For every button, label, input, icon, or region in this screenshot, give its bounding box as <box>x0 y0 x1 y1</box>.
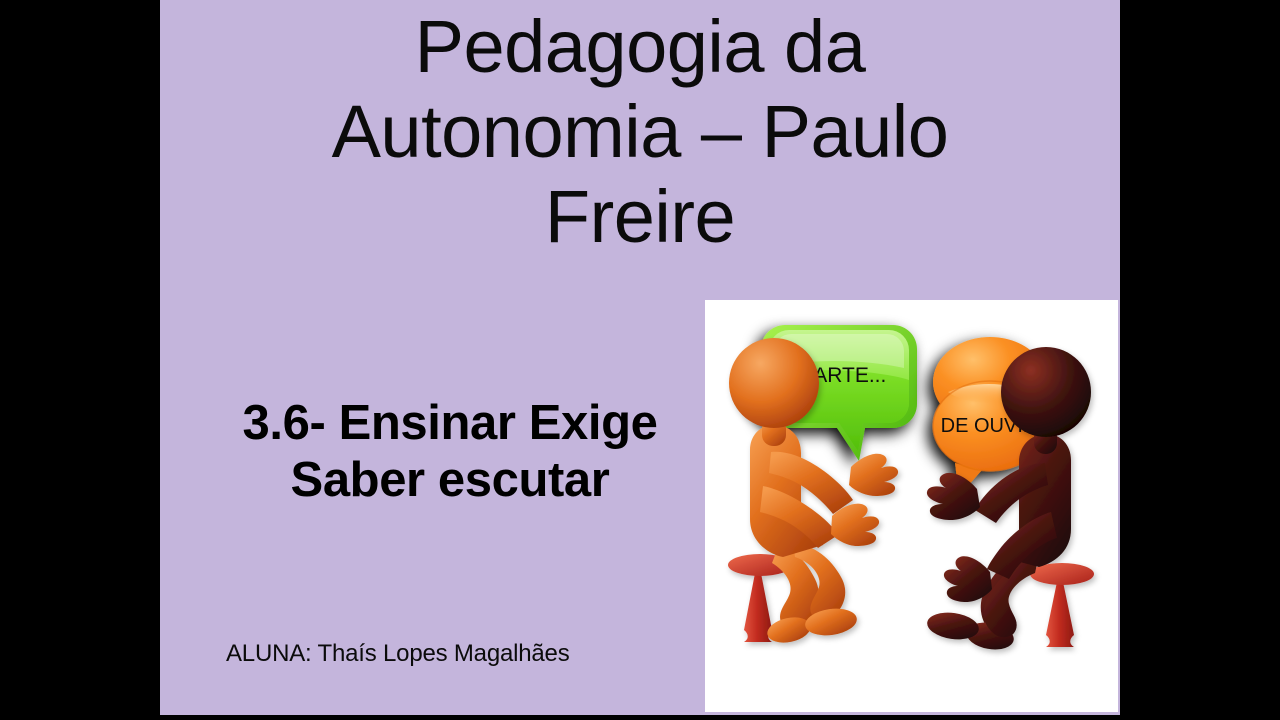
presentation-slide: Pedagogia da Autonomia – Paulo Freire 3.… <box>160 0 1120 715</box>
slide-viewport: Pedagogia da Autonomia – Paulo Freire 3.… <box>0 0 1280 720</box>
slide-title: Pedagogia da Autonomia – Paulo Freire <box>160 4 1120 259</box>
author-line: ALUNA: Thaís Lopes Magalhães <box>226 640 570 668</box>
listener-head <box>1001 347 1091 437</box>
illustration-panel: A ARTE... DE OUVIR <box>705 300 1118 712</box>
conversation-illustration: A ARTE... DE OUVIR <box>705 300 1118 712</box>
section-heading: 3.6- Ensinar Exige Saber escutar <box>180 395 720 509</box>
speaker-head <box>729 338 819 428</box>
